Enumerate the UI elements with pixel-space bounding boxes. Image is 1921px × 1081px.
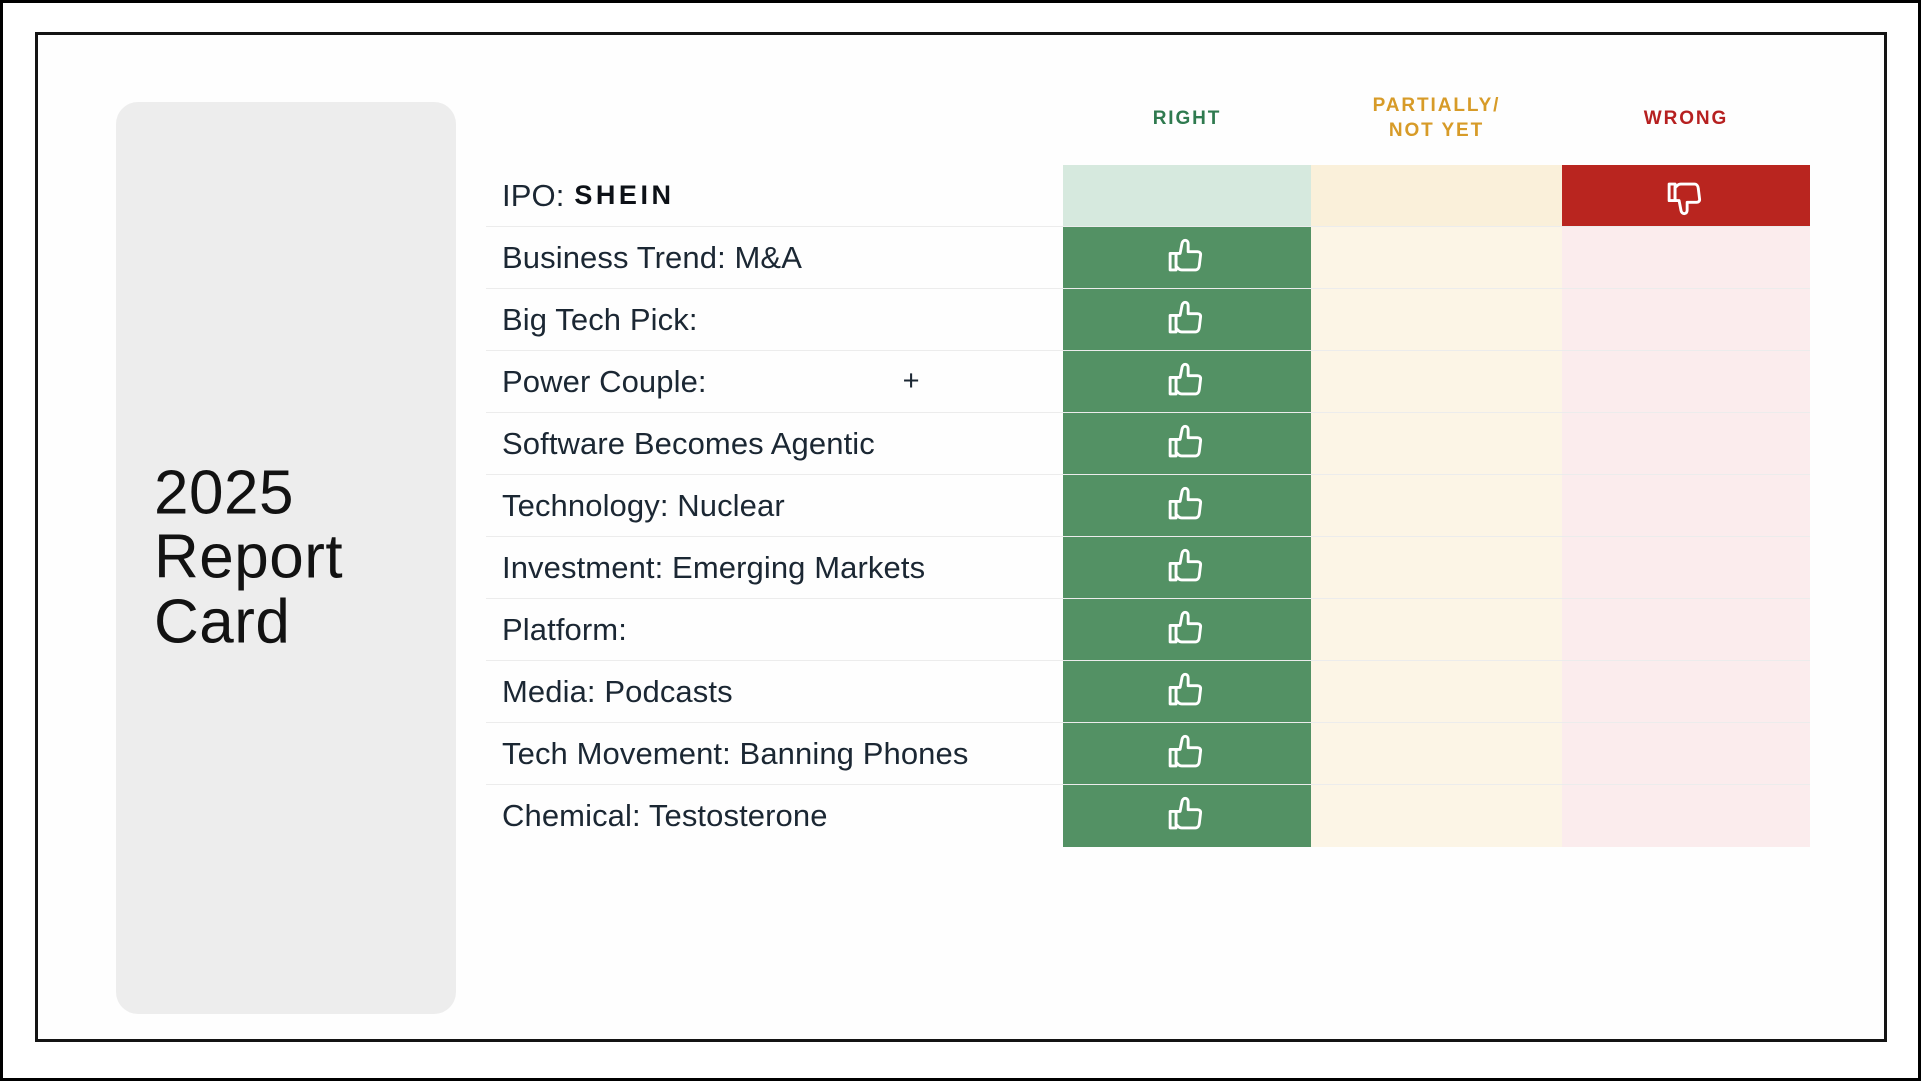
row-label-text: Platform: <box>502 612 627 648</box>
row-label: Tech Movement: Banning Phones <box>486 723 1063 784</box>
table-row: Media: Podcasts <box>486 661 1810 723</box>
verdict-cell-wrong <box>1562 723 1810 784</box>
row-label: Chemical: Testosterone <box>486 785 1063 847</box>
header-label-spacer <box>486 73 1063 165</box>
verdict-cell-right <box>1063 537 1311 598</box>
page-title: 2025 Report Card <box>154 461 343 654</box>
verdict-cell-partial <box>1311 785 1562 847</box>
table-row: IPO:SHEIN <box>486 165 1810 227</box>
thumbs-up-icon <box>1164 669 1210 715</box>
plus-separator: + <box>903 365 920 398</box>
thumbs-up-icon <box>1164 793 1210 839</box>
verdict-cell-wrong <box>1562 537 1810 598</box>
verdict-cell-partial <box>1311 165 1562 226</box>
verdict-cell-partial <box>1311 723 1562 784</box>
row-label: Technology: Nuclear <box>486 475 1063 536</box>
verdict-cell-partial <box>1311 661 1562 722</box>
row-label: Software Becomes Agentic <box>486 413 1063 474</box>
column-header-right: RIGHT <box>1063 73 1311 165</box>
row-label-text: Business Trend: M&A <box>502 240 802 276</box>
verdict-cell-wrong <box>1562 227 1810 288</box>
verdict-cell-right <box>1063 785 1311 847</box>
verdict-cell-wrong <box>1562 475 1810 536</box>
row-label: Investment: Emerging Markets <box>486 537 1063 598</box>
table-header-row: RIGHT PARTIALLY/ NOT YET WRONG <box>486 73 1810 165</box>
row-label-text: Media: Podcasts <box>502 674 733 710</box>
row-label: Platform: <box>486 599 1063 660</box>
table-row: Business Trend: M&A <box>486 227 1810 289</box>
thumbs-up-icon <box>1164 359 1210 405</box>
verdict-cell-right <box>1063 227 1311 288</box>
verdict-cell-partial <box>1311 351 1562 412</box>
verdict-cell-wrong <box>1562 785 1810 847</box>
verdict-cell-right <box>1063 351 1311 412</box>
row-label-text: IPO: <box>502 178 564 214</box>
thumbs-up-icon <box>1164 421 1210 467</box>
thumbs-up-icon <box>1164 235 1210 281</box>
verdict-cell-wrong <box>1562 351 1810 412</box>
row-label-text: Software Becomes Agentic <box>502 426 875 462</box>
verdict-cell-partial <box>1311 227 1562 288</box>
verdict-cell-partial <box>1311 537 1562 598</box>
brand-wordmark: SHEIN <box>574 180 674 211</box>
verdict-cell-right <box>1063 289 1311 350</box>
slide-canvas: 2025 Report Card RIGHT PARTIALLY/ NOT YE… <box>0 0 1921 1081</box>
verdict-cell-right <box>1063 475 1311 536</box>
row-label: IPO:SHEIN <box>486 165 1063 226</box>
verdict-cell-wrong <box>1562 413 1810 474</box>
table-row: Platform: <box>486 599 1810 661</box>
title-panel: 2025 Report Card <box>116 102 456 1014</box>
verdict-cell-wrong <box>1562 599 1810 660</box>
thumbs-up-icon <box>1164 483 1210 529</box>
verdict-cell-partial <box>1311 413 1562 474</box>
row-label-text: Tech Movement: Banning Phones <box>502 736 968 772</box>
row-label-text: Chemical: Testosterone <box>502 798 828 834</box>
verdict-cell-right <box>1063 661 1311 722</box>
thumbs-up-icon <box>1164 731 1210 777</box>
row-label: Big Tech Pick: <box>486 289 1063 350</box>
table-row: Power Couple:+ <box>486 351 1810 413</box>
column-header-wrong: WRONG <box>1562 73 1810 165</box>
slide-inner-frame: 2025 Report Card RIGHT PARTIALLY/ NOT YE… <box>35 32 1887 1042</box>
verdict-cell-wrong <box>1562 289 1810 350</box>
table-row: Big Tech Pick: <box>486 289 1810 351</box>
report-card-table: RIGHT PARTIALLY/ NOT YET WRONG IPO:SHEIN… <box>486 73 1810 847</box>
thumbs-up-icon <box>1164 297 1210 343</box>
verdict-cell-partial <box>1311 599 1562 660</box>
row-label-text: Technology: Nuclear <box>502 488 785 524</box>
verdict-cell-right <box>1063 413 1311 474</box>
row-label: Business Trend: M&A <box>486 227 1063 288</box>
verdict-cell-right <box>1063 165 1311 226</box>
verdict-cell-wrong <box>1562 661 1810 722</box>
verdict-cell-partial <box>1311 289 1562 350</box>
table-row: Chemical: Testosterone <box>486 785 1810 847</box>
verdict-cell-partial <box>1311 475 1562 536</box>
verdict-cell-right <box>1063 723 1311 784</box>
row-label: Media: Podcasts <box>486 661 1063 722</box>
row-label: Power Couple:+ <box>486 351 1063 412</box>
table-row: Software Becomes Agentic <box>486 413 1810 475</box>
table-row: Tech Movement: Banning Phones <box>486 723 1810 785</box>
thumbs-down-icon <box>1663 173 1709 219</box>
row-label-text: Big Tech Pick: <box>502 302 698 338</box>
row-label-text: Investment: Emerging Markets <box>502 550 925 586</box>
verdict-cell-wrong <box>1562 165 1810 226</box>
table-row: Technology: Nuclear <box>486 475 1810 537</box>
table-body: IPO:SHEINBusiness Trend: M&ABig Tech Pic… <box>486 165 1810 847</box>
verdict-cell-right <box>1063 599 1311 660</box>
column-header-partially-not-yet: PARTIALLY/ NOT YET <box>1311 73 1562 165</box>
thumbs-up-icon <box>1164 607 1210 653</box>
row-label-text: Power Couple: <box>502 364 707 400</box>
table-row: Investment: Emerging Markets <box>486 537 1810 599</box>
thumbs-up-icon <box>1164 545 1210 591</box>
